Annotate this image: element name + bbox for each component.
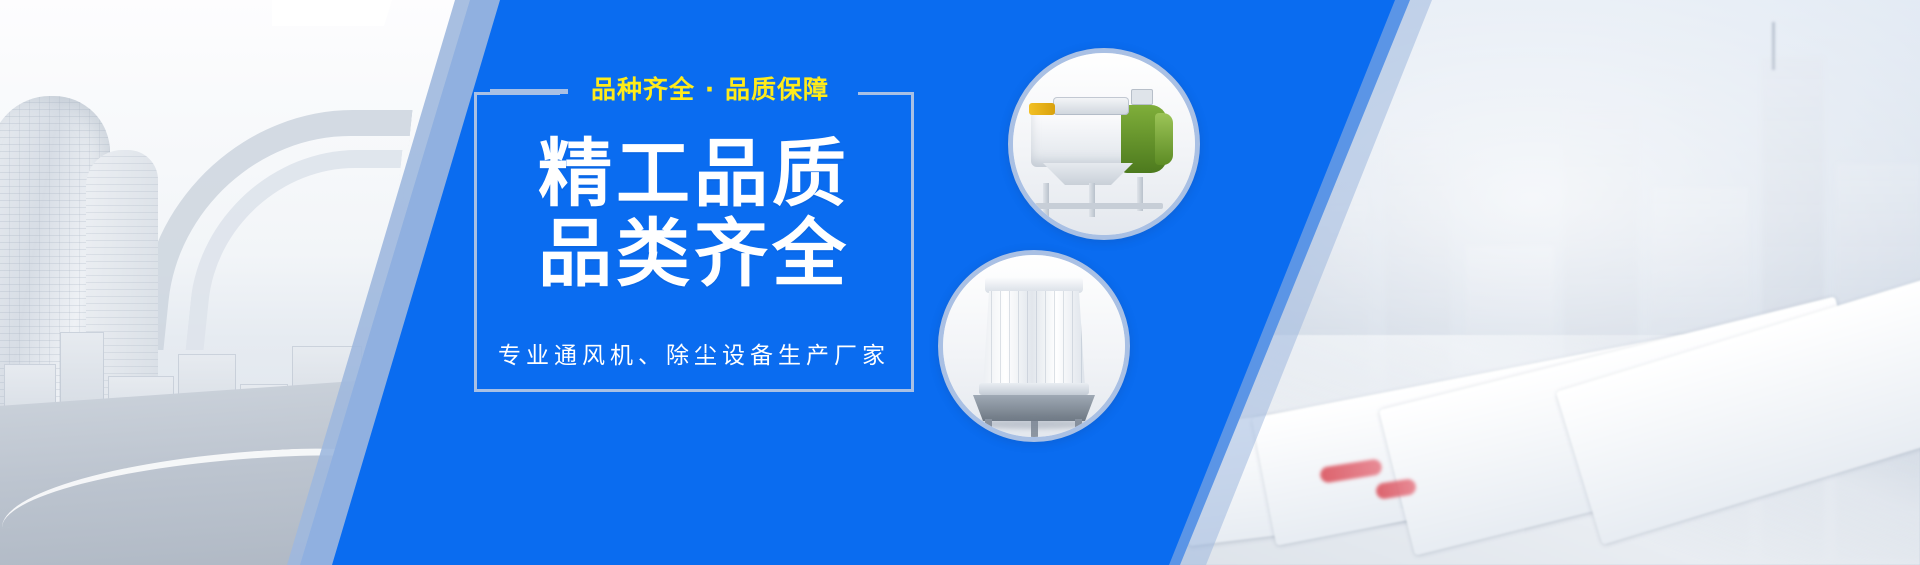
machine-top-cover-icon xyxy=(1053,97,1129,115)
tower-shadow xyxy=(969,419,1099,429)
machine-base-icon xyxy=(1035,203,1163,209)
machine-yellow-motor-icon xyxy=(1029,103,1055,115)
hero-banner: 品种齐全 · 品质保障 精工品质 品类齐全 专业通风机、除尘设备生产厂家 xyxy=(0,0,1920,565)
headline-line-2: 品类齐全 xyxy=(474,214,914,294)
frame-dash-accent xyxy=(490,89,568,94)
machine-leg-icon xyxy=(1089,183,1095,217)
tower-base-icon xyxy=(973,395,1095,421)
banner-headline: 精工品质 品类齐全 xyxy=(474,134,914,294)
machine-leg-icon xyxy=(1043,183,1049,217)
banner-subtitle: 专业通风机、除尘设备生产厂家 xyxy=(474,336,914,370)
banner-text-block: 品种齐全 · 品质保障 精工品质 品类齐全 专业通风机、除尘设备生产厂家 xyxy=(474,92,914,392)
tower-body-icon xyxy=(983,291,1085,387)
tower-mid-ring-icon xyxy=(979,383,1089,395)
tower-top-ring-icon xyxy=(985,277,1083,293)
banner-tagline: 品种齐全 · 品质保障 xyxy=(560,72,860,108)
machine-control-panel-icon xyxy=(1131,89,1153,105)
product-circle-cooling-tower xyxy=(938,250,1130,442)
product-circle-dust-collector xyxy=(1008,48,1200,240)
headline-line-1: 精工品质 xyxy=(474,134,914,214)
machine-green-cap-icon xyxy=(1155,113,1173,165)
corner-highlight xyxy=(272,0,392,26)
